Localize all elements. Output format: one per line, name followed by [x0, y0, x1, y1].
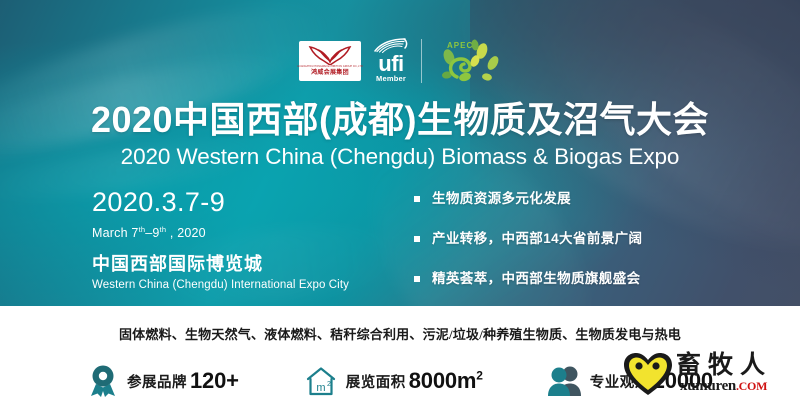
stats-row: 参展品牌 120+ m 2 展览面积 8000m2 — [0, 358, 800, 404]
page-title-en: 2020 Western China (Chengdu) Biomass & B… — [0, 142, 800, 171]
hongwei-wings-icon — [307, 45, 353, 65]
stat-value: 20000 — [653, 368, 713, 394]
date-prefix: March 7 — [92, 226, 139, 240]
stat-label: 展览面积 — [346, 371, 406, 392]
hongwei-exhibition-group-logo: GUANGZHOU HONGWEI EXHIBITION GROUP CO.,L… — [299, 41, 361, 81]
svg-text:m: m — [316, 382, 325, 394]
date-suffix: , 2020 — [166, 226, 206, 240]
house-area-icon: m 2 — [305, 366, 337, 396]
stat-value: 120+ — [190, 368, 239, 394]
hongwei-logo-cn: 鸿威会展集团 — [311, 69, 349, 77]
stat-value-unit: 2 — [476, 369, 482, 383]
ufi-member-logo: ufi Member — [374, 38, 408, 84]
list-item: 精英荟萃，中西部生物质旗舰盛会 — [414, 270, 642, 288]
title-block: 2020中国西部(成都)生物质及沼气大会 2020 Western China … — [0, 98, 800, 171]
highlight-text: 生物质资源多元化发展 — [432, 190, 571, 208]
ufi-member-label: Member — [376, 74, 406, 84]
venue-name-cn: 中国西部国际博览城 — [92, 251, 349, 277]
page-title-cn: 2020中国西部(成都)生物质及沼气大会 — [0, 98, 800, 142]
expo-banner: GUANGZHOU HONGWEI EXHIBITION GROUP CO.,L… — [0, 0, 800, 404]
visitors-icon — [547, 365, 581, 397]
stat-area: m 2 展览面积 8000m2 — [305, 366, 483, 396]
svg-text:2: 2 — [327, 381, 331, 388]
event-date-cn: 2020.3.7-9 — [92, 186, 349, 219]
svg-text:APEC: APEC — [447, 41, 473, 50]
square-bullet-icon — [414, 276, 420, 282]
logo-strip: GUANGZHOU HONGWEI EXHIBITION GROUP CO.,L… — [0, 33, 800, 89]
apec-leaves-icon: APEC — [435, 37, 501, 85]
square-bullet-icon — [414, 236, 420, 242]
square-bullet-icon — [414, 196, 420, 202]
stat-label: 专业观众 — [590, 371, 650, 392]
event-info-block: 2020.3.7-9 March 7th–9th , 2020 中国西部国际博览… — [92, 186, 349, 293]
date-mid: –9 — [145, 226, 159, 240]
stat-value-text: 8000m — [409, 368, 477, 393]
footer-bar: 固体燃料、生物天然气、液体燃料、秸秆综合利用、污泥/垃圾/种养殖生物质、生物质发… — [0, 306, 800, 404]
category-list: 固体燃料、生物天然气、液体燃料、秸秆综合利用、污泥/垃圾/种养殖生物质、生物质发… — [0, 324, 800, 343]
stat-label: 参展品牌 — [127, 371, 187, 392]
list-item: 生物质资源多元化发展 — [414, 190, 642, 208]
stat-brands: 参展品牌 120+ — [88, 365, 239, 397]
list-item: 产业转移，中西部14大省前景广阔 — [414, 230, 642, 248]
highlight-text: 精英荟萃，中西部生物质旗舰盛会 — [432, 270, 641, 288]
stat-visitors: 专业观众 20000 — [547, 365, 713, 397]
ufi-wordmark: ufi — [378, 54, 403, 74]
venue-name-en: Western China (Chengdu) International Ex… — [92, 277, 349, 293]
stat-value: 8000m2 — [409, 368, 483, 394]
apec-green-logo: APEC — [435, 37, 501, 85]
highlights-list: 生物质资源多元化发展 产业转移，中西部14大省前景广阔 精英荟萃，中西部生物质旗… — [414, 190, 642, 310]
event-date-en: March 7th–9th , 2020 — [92, 221, 349, 242]
highlight-text: 产业转移，中西部14大省前景广阔 — [432, 230, 642, 248]
award-badge-icon — [88, 365, 118, 397]
logo-divider — [421, 39, 422, 83]
